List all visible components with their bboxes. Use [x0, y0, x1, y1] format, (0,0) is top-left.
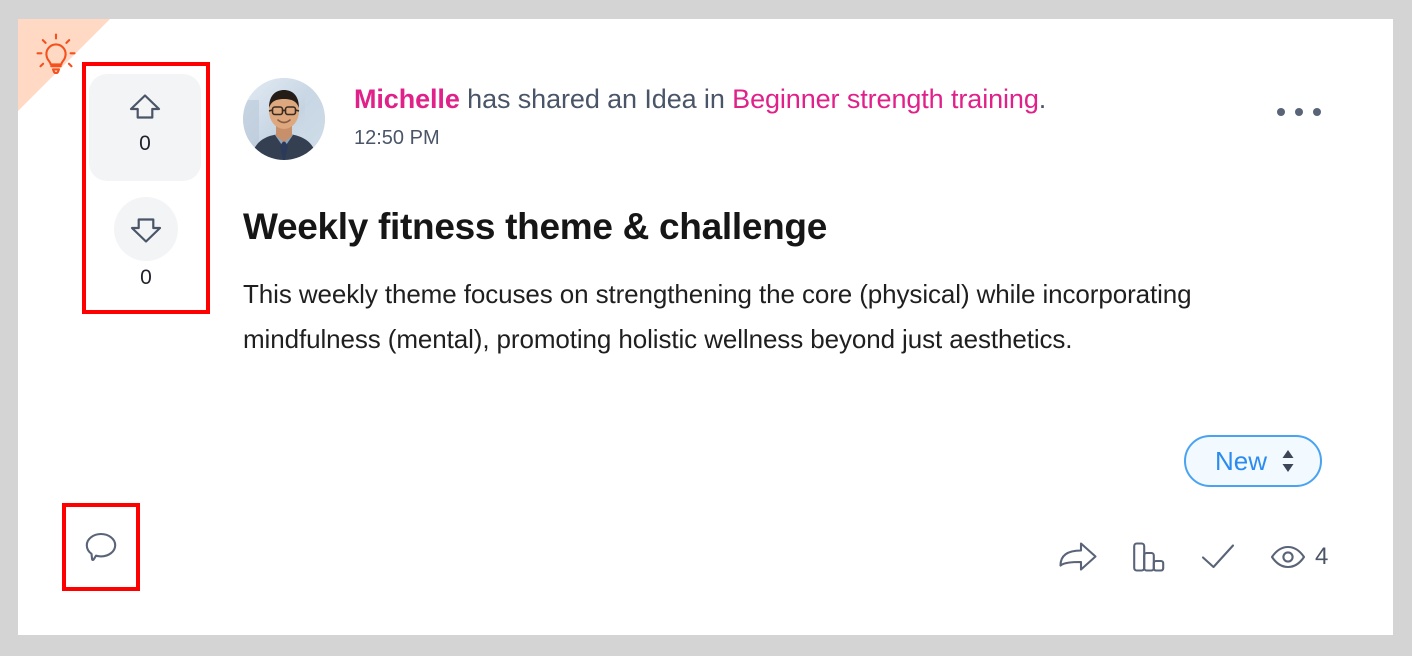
insights-button[interactable] [1132, 540, 1166, 574]
ellipsis-dot-1 [1277, 108, 1285, 116]
bar-chart-icon [1132, 540, 1166, 574]
avatar[interactable] [243, 78, 325, 160]
ellipsis-dot-3 [1313, 108, 1321, 116]
vote-rail-highlight: 0 0 [82, 62, 210, 314]
footer-actions: 4 [1058, 535, 1328, 579]
downvote-button[interactable] [114, 197, 178, 261]
timestamp: 12:50 PM [354, 127, 440, 150]
page-title: Weekly fitness theme & challenge [243, 206, 827, 248]
updown-chevron-icon [1281, 449, 1295, 473]
eye-icon [1270, 545, 1306, 569]
arrow-down-icon [128, 211, 164, 247]
space-link[interactable]: Beginner strength training [732, 84, 1039, 114]
check-icon [1200, 542, 1236, 572]
ellipsis-icon[interactable] [1277, 105, 1321, 119]
downvote-count: 0 [86, 266, 206, 290]
status-dropdown[interactable]: New [1184, 435, 1322, 487]
upvote-count: 0 [89, 132, 201, 156]
post-card: 0 0 [18, 19, 1393, 635]
upvote-button[interactable]: 0 [89, 74, 201, 181]
post-meta-line: Michelle has shared an Idea in Beginner … [354, 81, 1046, 117]
views-count: 4 [1315, 543, 1328, 571]
arrow-up-icon [127, 90, 163, 126]
ellipsis-dot-2 [1295, 108, 1303, 116]
post-body: This weekly theme focuses on strengtheni… [243, 272, 1333, 362]
lightbulb-icon [32, 32, 80, 80]
meta-action-text: has shared an Idea in [460, 84, 732, 114]
share-icon [1058, 540, 1098, 574]
comment-button-highlight[interactable] [62, 503, 140, 591]
meta-punctuation: . [1039, 84, 1046, 114]
approve-button[interactable] [1200, 542, 1236, 572]
comment-bubble-icon[interactable] [83, 529, 119, 565]
author-name[interactable]: Michelle [354, 84, 460, 114]
views-button[interactable]: 4 [1270, 543, 1328, 571]
status-badge: New [1215, 446, 1267, 477]
share-button[interactable] [1058, 540, 1098, 574]
